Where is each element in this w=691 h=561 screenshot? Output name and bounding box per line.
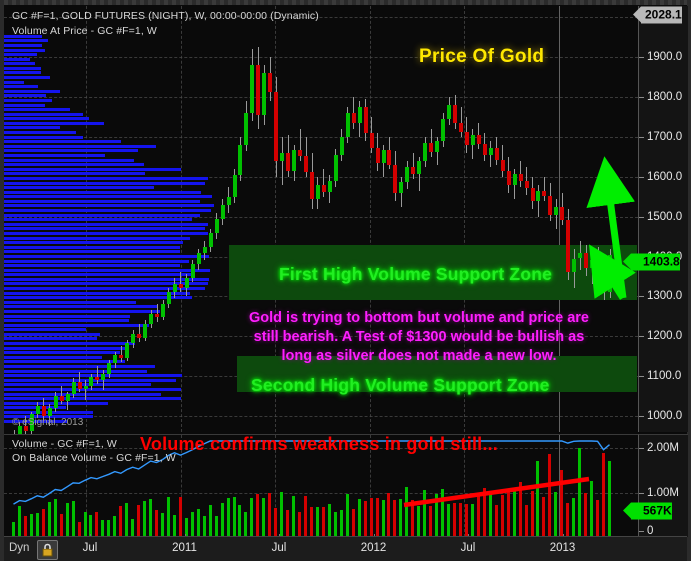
- candle-body: [84, 386, 88, 389]
- axis-tick: [639, 416, 644, 417]
- time-axis-label: 2013: [550, 542, 576, 554]
- vap-bar: [4, 324, 149, 327]
- vap-bar: [4, 315, 130, 318]
- volume-bar: [346, 494, 349, 537]
- candle-body: [525, 181, 529, 188]
- price-axis-label: 1000.0: [647, 410, 682, 422]
- axis-tick: [639, 217, 644, 218]
- volume-bar: [250, 498, 253, 537]
- vap-bar: [4, 232, 208, 235]
- volume-bar: [370, 498, 373, 537]
- axis-tick: [639, 448, 644, 449]
- volume-bar: [382, 500, 385, 537]
- candle-body: [602, 266, 606, 292]
- axis-tick: [639, 97, 644, 98]
- vap-bar: [4, 356, 102, 359]
- vap-bar: [4, 140, 121, 143]
- vap-bar: [4, 301, 136, 304]
- volume-bar: [340, 510, 343, 537]
- volume-bar: [405, 487, 408, 537]
- candle-body: [536, 191, 540, 201]
- vap-bar: [4, 67, 41, 70]
- volume-bar: [149, 499, 152, 537]
- candle-body: [584, 253, 588, 269]
- time-axis-label: Jul: [461, 542, 476, 554]
- volume-axis[interactable]: 01.00M2.00M 567K: [638, 434, 688, 537]
- price-axis-label: 1200.0: [647, 330, 682, 342]
- volume-bar: [376, 498, 379, 537]
- candle-body: [89, 377, 93, 386]
- volume-bar: [501, 495, 504, 537]
- volume-bar: [197, 509, 200, 537]
- candle-body: [477, 135, 481, 144]
- vap-bar: [4, 388, 181, 391]
- price-axis-label: 1700.0: [647, 131, 682, 143]
- volume-bar: [66, 503, 69, 537]
- volume-bar: [429, 506, 432, 537]
- volume-bar: [554, 492, 557, 537]
- volume-bar: [256, 494, 259, 537]
- price-axis[interactable]: 1000.01100.01200.01300.01400.01500.01600…: [638, 6, 688, 432]
- candle-body: [358, 107, 362, 123]
- candle-body: [238, 145, 242, 175]
- candle-wick: [323, 169, 324, 197]
- vap-bar: [4, 397, 181, 400]
- volume-bar: [411, 500, 414, 537]
- candle-body: [560, 207, 564, 220]
- volume-bar: [155, 510, 158, 537]
- candle-body: [286, 153, 290, 171]
- volume-bar: [274, 508, 277, 537]
- volume-bar: [221, 503, 224, 537]
- candle-wick: [157, 304, 158, 322]
- vap-bar: [4, 62, 35, 65]
- volume-pane[interactable]: Volume - GC #F=1, W On Balance Volume - …: [4, 434, 638, 537]
- candle-body: [203, 247, 207, 254]
- vap-bar: [4, 246, 180, 249]
- gridline-h: [4, 493, 638, 494]
- vap-bar: [4, 227, 205, 230]
- vap-bar: [4, 250, 180, 253]
- vap-bar: [4, 264, 180, 267]
- volume-bar: [262, 498, 265, 537]
- candle-body: [578, 253, 582, 259]
- vap-bar: [4, 237, 190, 240]
- price-axis-label: 1500.0: [647, 211, 682, 223]
- volume-bar: [507, 490, 510, 537]
- vap-bar: [4, 333, 100, 336]
- price-axis-label: 1800.0: [647, 91, 682, 103]
- volume-bar: [364, 501, 367, 537]
- volume-bar: [441, 489, 444, 537]
- vap-bar: [4, 90, 60, 93]
- candle-body: [334, 155, 338, 181]
- volume-bar: [536, 461, 539, 538]
- candle-body: [173, 284, 177, 292]
- vap-bar: [4, 365, 155, 368]
- candle-body: [137, 334, 141, 338]
- candle-body: [513, 174, 517, 185]
- volume-bar: [608, 461, 611, 537]
- candle-body: [131, 334, 135, 343]
- candle-body: [250, 65, 254, 113]
- candle-body: [346, 113, 350, 137]
- volume-bar: [453, 503, 456, 537]
- candle-wick: [461, 107, 462, 137]
- volume-bar: [596, 500, 599, 537]
- candle-body: [95, 377, 99, 380]
- vap-bar: [4, 76, 50, 79]
- volume-bar: [358, 499, 361, 537]
- candle-body: [197, 253, 201, 264]
- candle-body: [459, 123, 463, 132]
- symbol-header: GC #F=1, GOLD FUTURES (NIGHT), W, 00:00-…: [12, 10, 319, 22]
- vap-bar: [4, 163, 144, 166]
- volume-bar: [423, 490, 426, 537]
- note-line-3: long as silver does not made a new low.: [209, 347, 629, 366]
- volume-bar: [238, 505, 241, 537]
- volume-bar: [227, 498, 230, 537]
- vap-bar: [4, 218, 192, 221]
- gridline-h: [4, 416, 638, 417]
- volume-bar: [471, 504, 474, 537]
- candle-body: [60, 396, 64, 401]
- vap-bar: [4, 195, 212, 198]
- volume-bar: [137, 505, 140, 537]
- axis-tick: [639, 376, 644, 377]
- candle-body: [155, 314, 159, 317]
- vap-bar: [4, 122, 104, 125]
- volume-bar: [525, 505, 528, 537]
- candle-body: [596, 260, 600, 266]
- vap-bar: [4, 305, 158, 308]
- volume-bar: [477, 494, 480, 537]
- candle-body: [507, 171, 511, 185]
- candle-body: [495, 148, 499, 160]
- volume-bar: [209, 505, 212, 537]
- candle-body: [72, 382, 76, 394]
- vap-bar: [4, 319, 129, 322]
- candle-body: [304, 156, 308, 172]
- volume-bar: [280, 492, 283, 537]
- obv-header: On Balance Volume - GC #F=1, W: [12, 452, 176, 464]
- vap-bar: [4, 296, 192, 299]
- candle-body: [435, 141, 439, 152]
- axis-tick: [639, 137, 644, 138]
- volume-bar: [179, 497, 182, 537]
- time-axis-label: Jul: [83, 542, 98, 554]
- vap-bar: [4, 182, 205, 185]
- candle-body: [328, 181, 332, 192]
- candle-body: [298, 150, 302, 156]
- analysis-note: Gold is trying to bottom but volume and …: [209, 309, 629, 366]
- vap-bar: [4, 186, 154, 189]
- candle-wick: [413, 153, 414, 179]
- candle-body: [167, 292, 171, 303]
- candle-body: [107, 363, 111, 374]
- candle-body: [143, 324, 147, 339]
- status-bar: Dyn Jul2011Jul2012Jul2013: [4, 536, 687, 561]
- candle-body: [382, 150, 386, 163]
- price-axis-label: 1600.0: [647, 171, 682, 183]
- vap-bar: [4, 337, 97, 340]
- candle-body: [393, 165, 397, 193]
- candle-body: [161, 304, 165, 318]
- axis-tick: [639, 336, 644, 337]
- candle-body: [221, 205, 225, 219]
- volume-bar: [531, 491, 534, 537]
- candle-body: [399, 182, 403, 193]
- volume-note: Volume confirms weakness in gold still..…: [140, 434, 498, 455]
- candle-body: [179, 284, 183, 287]
- candle-body: [340, 137, 344, 155]
- volume-bar: [572, 498, 575, 537]
- vap-bar: [4, 209, 211, 212]
- candle-body: [233, 175, 237, 198]
- volume-bar: [316, 507, 319, 537]
- volume-axis-label: 2.00M: [647, 442, 679, 454]
- vap-bar: [4, 310, 160, 313]
- volume-bar: [399, 499, 402, 537]
- candle-body: [542, 191, 546, 196]
- vap-bar: [4, 39, 48, 42]
- candle-body: [554, 207, 558, 215]
- candle-body: [453, 105, 457, 123]
- time-axis-label: 2012: [361, 542, 387, 554]
- volume-bar: [54, 499, 57, 537]
- candle-wick: [139, 324, 140, 342]
- vap-bar: [4, 223, 208, 226]
- candle-body: [48, 408, 52, 416]
- vap-bar: [4, 273, 192, 276]
- vap-bar: [4, 145, 156, 148]
- vap-bar: [4, 154, 105, 157]
- vap-header: Volume At Price - GC #F=1, W: [12, 25, 157, 37]
- candle-body: [310, 172, 314, 199]
- volume-bar: [435, 494, 438, 537]
- volume-bar: [387, 493, 390, 537]
- volume-bar: [286, 510, 289, 537]
- axis-tick: [639, 531, 644, 532]
- gridline-h: [4, 97, 638, 98]
- candle-body: [608, 255, 612, 292]
- candle-body: [322, 185, 326, 192]
- volume-bar: [548, 454, 551, 537]
- vap-bar: [4, 241, 183, 244]
- candle-body: [387, 150, 391, 165]
- volume-bar: [125, 503, 128, 537]
- candle-body: [483, 144, 487, 155]
- candle-body: [316, 185, 320, 199]
- volume-bar: [519, 482, 522, 537]
- volume-bar: [542, 497, 545, 537]
- vap-bar: [4, 85, 38, 88]
- volume-bar: [304, 496, 307, 537]
- vap-bar: [4, 370, 147, 373]
- vap-bar: [4, 204, 214, 207]
- axis-tick: [639, 296, 644, 297]
- vap-bar: [4, 126, 60, 129]
- candle-body: [489, 148, 493, 155]
- volume-bar: [233, 497, 236, 537]
- volume-bar: [578, 448, 581, 537]
- candle-body: [215, 219, 219, 234]
- volume-bar: [459, 503, 462, 537]
- volume-bar: [268, 493, 271, 537]
- candle-wick: [544, 177, 545, 201]
- candle-body: [566, 220, 570, 273]
- vap-bar: [4, 282, 208, 285]
- candle-body: [405, 167, 409, 182]
- volume-bar: [352, 509, 355, 537]
- vap-bar: [4, 191, 201, 194]
- vap-bar: [4, 136, 83, 139]
- candle-body: [119, 355, 123, 358]
- volume-bar: [143, 501, 146, 537]
- volume-bar: [513, 488, 516, 537]
- candle-body: [411, 167, 415, 174]
- candle-body: [113, 355, 117, 363]
- candle-body: [471, 135, 475, 145]
- candle-body: [227, 197, 231, 204]
- vap-bar: [4, 342, 135, 345]
- vap-bar: [4, 255, 209, 258]
- vap-bar: [4, 149, 138, 152]
- vap-bar: [4, 260, 189, 263]
- volume-bar: [18, 506, 21, 537]
- last-volume-marker: 567K: [631, 503, 672, 520]
- dyn-label: Dyn: [9, 542, 29, 554]
- price-axis-label: 1300.0: [647, 290, 682, 302]
- candle-wick: [598, 247, 599, 273]
- last-price-marker: 1403.8: [631, 254, 680, 271]
- zone-label-first: First High Volume Support Zone: [279, 264, 552, 285]
- candle-body: [364, 107, 368, 133]
- vap-bar: [4, 131, 76, 134]
- axis-tick: [639, 177, 644, 178]
- volume-bar: [590, 481, 593, 538]
- candle-body: [42, 406, 46, 416]
- candle-body: [429, 143, 433, 152]
- candle-wick: [538, 185, 539, 217]
- vap-bar: [4, 108, 70, 111]
- top-ruler[interactable]: [4, 0, 687, 5]
- candle-body: [256, 65, 260, 115]
- vap-bar: [4, 347, 128, 350]
- candle-wick: [97, 366, 98, 384]
- price-axis-label: 1100.0: [647, 370, 681, 382]
- vap-bar: [4, 44, 42, 47]
- volume-bar: [292, 496, 295, 537]
- vap-bar: [4, 214, 200, 217]
- candle-body: [149, 314, 153, 323]
- candle-body: [268, 73, 272, 92]
- candle-body: [423, 143, 427, 161]
- volume-bar: [489, 492, 492, 537]
- volume-bar: [566, 503, 569, 537]
- watermark: © eSignal, 2013: [12, 417, 83, 428]
- volume-header: Volume - GC #F=1, W: [12, 438, 117, 450]
- vap-bar: [4, 200, 200, 203]
- candle-body: [531, 188, 535, 201]
- vap-bar: [4, 168, 181, 171]
- volume-bar: [560, 470, 563, 537]
- volume-bar: [310, 507, 313, 537]
- vap-bar: [4, 94, 46, 97]
- candle-body: [101, 374, 105, 380]
- candle-body: [519, 174, 523, 181]
- volume-bar: [584, 493, 587, 537]
- candle-wick: [85, 380, 86, 400]
- candle-body: [352, 113, 356, 123]
- vap-bar: [4, 113, 83, 116]
- volume-bar: [447, 504, 450, 537]
- vap-bar: [4, 351, 120, 354]
- chart-title: Price Of Gold: [419, 46, 544, 68]
- volume-bar: [322, 507, 325, 537]
- lock-icon[interactable]: [37, 540, 58, 560]
- volume-bar: [483, 488, 486, 537]
- candle-body: [465, 132, 469, 145]
- price-axis-label: 1900.0: [647, 51, 682, 63]
- candle-body: [54, 396, 58, 408]
- candle-body: [209, 233, 213, 246]
- candle-wick: [61, 386, 62, 404]
- volume-bar: [42, 509, 45, 537]
- volume-bar: [328, 504, 331, 537]
- vap-bar: [4, 159, 134, 162]
- candle-body: [501, 160, 505, 171]
- candle-body: [441, 119, 445, 141]
- volume-bar: [119, 506, 122, 537]
- candle-body: [36, 406, 40, 414]
- candle-wick: [300, 129, 301, 161]
- candle-body: [417, 161, 421, 174]
- axis-tick: [639, 493, 644, 494]
- volume-bar: [417, 506, 420, 537]
- candle-body: [66, 394, 70, 401]
- candle-body: [244, 113, 248, 145]
- volume-bar: [72, 501, 75, 537]
- candle-wick: [103, 370, 104, 390]
- volume-axis-label: 1.00M: [647, 487, 679, 499]
- time-axis-label: 2011: [172, 542, 197, 554]
- candle-body: [78, 382, 82, 389]
- volume-bar: [495, 505, 498, 537]
- vap-bar: [4, 172, 145, 175]
- vap-bar: [4, 269, 210, 272]
- gridline-h: [4, 137, 638, 138]
- candle-body: [590, 260, 594, 268]
- zone-label-second: Second High Volume Support Zone: [251, 375, 550, 396]
- note-line-2: still bearish. A Test of $1300 would be …: [209, 328, 629, 347]
- candle-body: [191, 264, 195, 278]
- candle-body: [280, 153, 284, 161]
- candle-body: [185, 278, 189, 287]
- candle-body: [370, 133, 374, 148]
- vap-bar: [4, 292, 190, 295]
- note-line-1: Gold is trying to bottom but volume and …: [209, 309, 629, 328]
- vap-bar: [4, 53, 37, 56]
- candle-body: [292, 150, 296, 171]
- scale-high-marker: 2028.1: [641, 7, 682, 24]
- vap-bar: [4, 71, 41, 74]
- vap-bar: [4, 278, 209, 281]
- candle-body: [376, 148, 380, 163]
- axis-tick: [639, 57, 644, 58]
- price-pane[interactable]: GC #F=1, GOLD FUTURES (NIGHT), W, 00:00-…: [4, 6, 638, 432]
- vap-bar: [4, 99, 52, 102]
